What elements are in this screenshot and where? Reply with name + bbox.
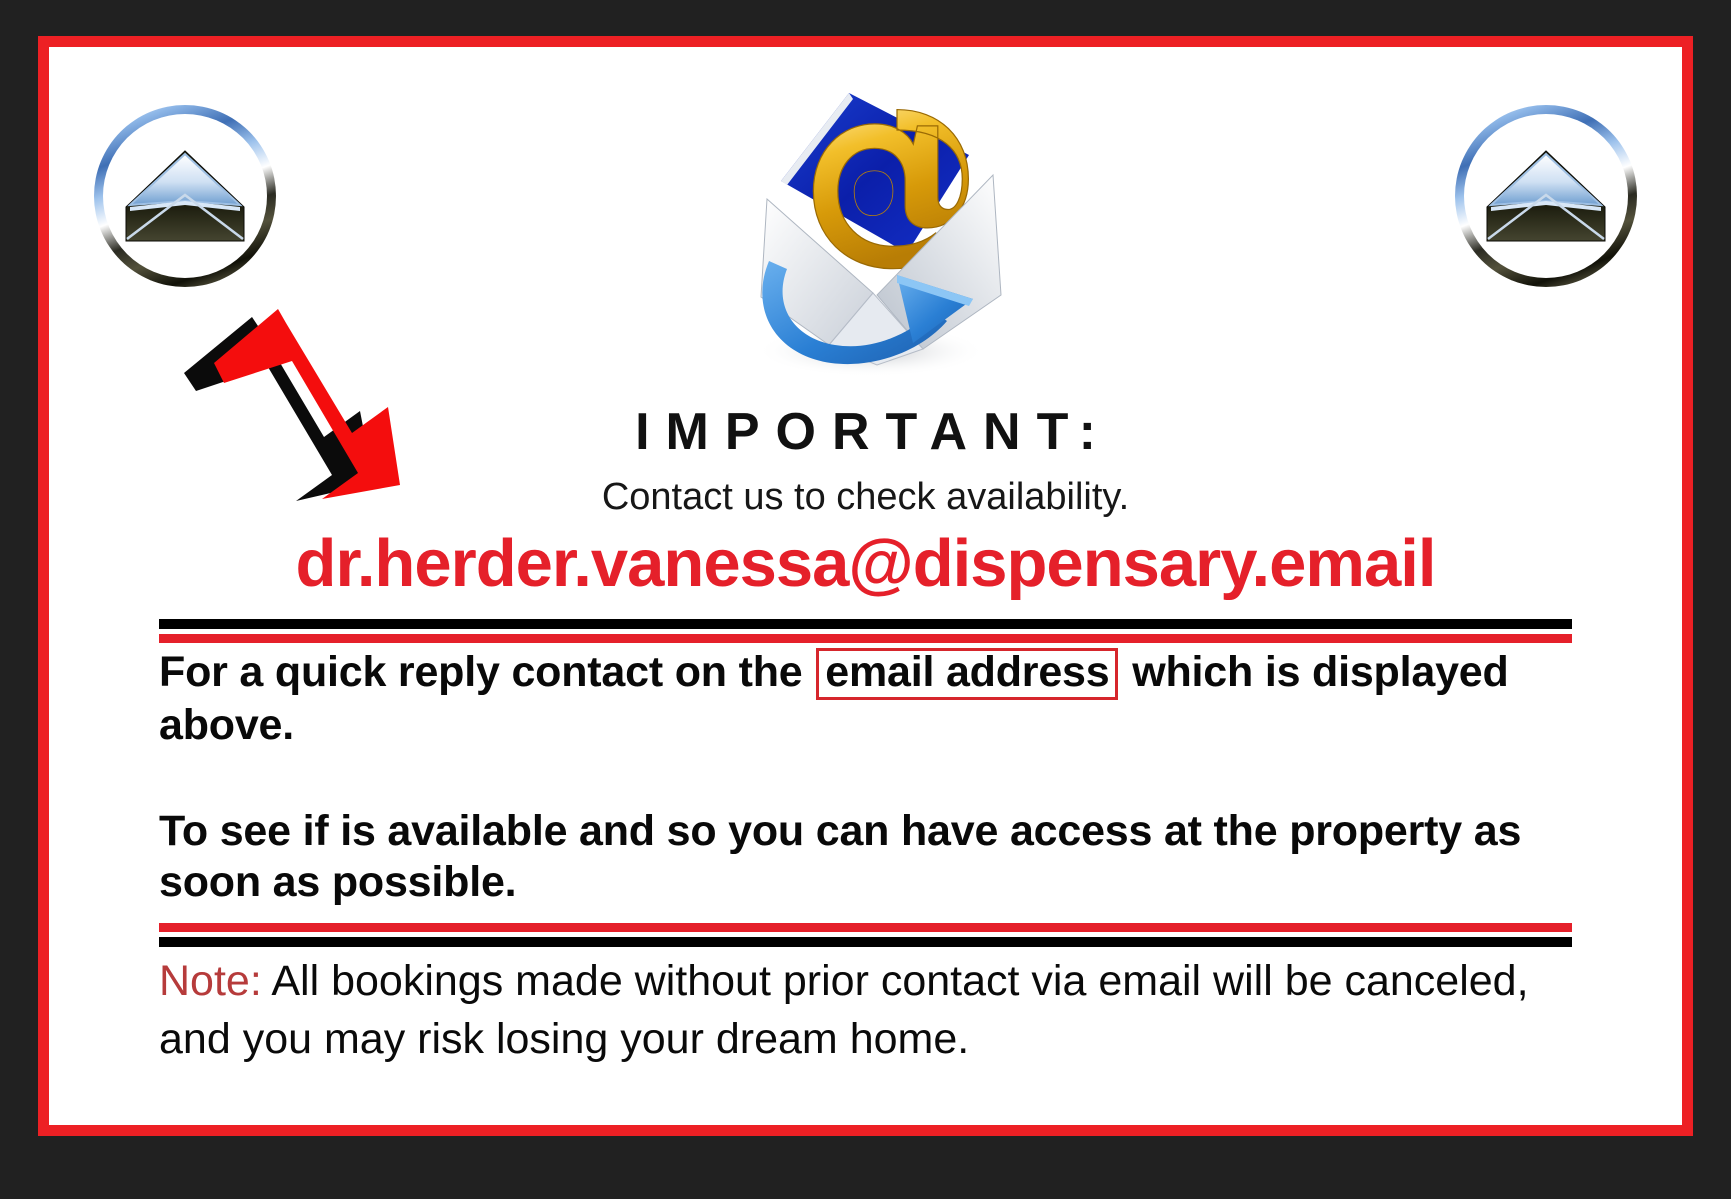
envelope-icon bbox=[1485, 149, 1607, 243]
paragraph-one: For a quick reply contact on the email a… bbox=[159, 647, 1572, 750]
right-envelope-badge bbox=[1455, 105, 1637, 287]
divider-black-bar bbox=[159, 937, 1572, 947]
at-symbol-envelope-logo bbox=[701, 63, 1031, 393]
note-label: Note: bbox=[159, 957, 262, 1005]
note-block: Note: All bookings made without prior co… bbox=[159, 952, 1602, 1068]
paragraph-two: To see if is available and so you can ha… bbox=[159, 806, 1572, 907]
envelope-icon bbox=[124, 149, 246, 243]
contact-email[interactable]: dr.herder.vanessa@dispensary.email bbox=[49, 525, 1682, 602]
page-title: IMPORTANT: bbox=[49, 405, 1682, 460]
divider-bottom bbox=[159, 923, 1572, 947]
divider-red-bar bbox=[159, 634, 1572, 643]
email-address-highlight[interactable]: email address bbox=[816, 648, 1118, 700]
body-block: For a quick reply contact on the email a… bbox=[159, 647, 1572, 907]
divider-top bbox=[159, 619, 1572, 643]
divider-black-bar bbox=[159, 619, 1572, 629]
note-text: All bookings made without prior contact … bbox=[159, 957, 1529, 1063]
paragraph-one-before: For a quick reply contact on the bbox=[159, 648, 803, 696]
page-root: IMPORTANT: Contact us to check availabil… bbox=[0, 0, 1731, 1199]
divider-red-bar bbox=[159, 923, 1572, 932]
headline-block: IMPORTANT: Contact us to check availabil… bbox=[49, 405, 1682, 602]
headline-subtitle: Contact us to check availability. bbox=[49, 476, 1682, 519]
left-envelope-badge bbox=[94, 105, 276, 287]
notice-card: IMPORTANT: Contact us to check availabil… bbox=[38, 36, 1693, 1136]
notice-card-inner: IMPORTANT: Contact us to check availabil… bbox=[49, 47, 1682, 1125]
